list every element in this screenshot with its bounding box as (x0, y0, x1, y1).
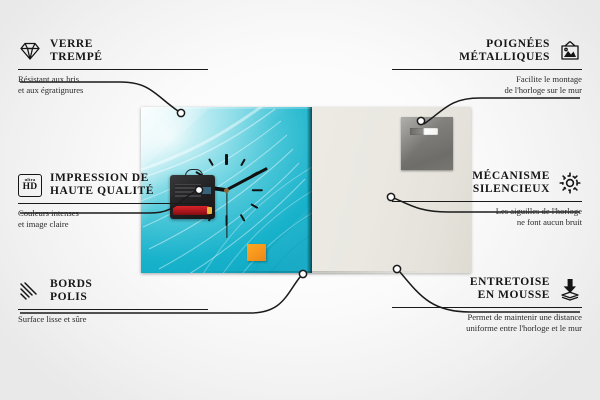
clock-second-hand (226, 190, 227, 238)
feature-entretoise-en-mousse: ENTRETOISE EN MOUSSE Permet de maintenir… (392, 276, 582, 334)
foam-spacer-icon (558, 277, 582, 301)
feature-rule (18, 203, 208, 204)
metal-hanger-plate (401, 117, 453, 170)
feature-desc-line2: ne font aucun bruit (517, 217, 582, 227)
feature-desc-line2: et aux égratignures (18, 85, 83, 95)
feature-title-line2: SILENCIEUX (473, 183, 550, 195)
feature-title-line1: MÉCANISME (472, 170, 550, 182)
feature-desc-line2: uniforme entre l'horloge et le mur (466, 323, 582, 333)
feature-verre-trempe: VERRE TREMPÉ Résistant aux bris et aux é… (18, 38, 208, 96)
feature-rule (392, 69, 582, 70)
gear-icon (558, 171, 582, 195)
picture-hanger-icon (558, 39, 582, 63)
infographic-canvas: VERRE TREMPÉ Résistant aux bris et aux é… (0, 0, 600, 400)
feature-mecanisme-silencieux: MÉCANISME SILENCIEUX Les aiguilles de l'… (392, 170, 582, 228)
feature-title-line2: HAUTE QUALITÉ (50, 185, 154, 197)
feature-desc-line1: Facilite le montage (516, 74, 582, 84)
foam-spacer (247, 244, 266, 261)
feature-title-line2: POLIS (50, 291, 87, 303)
feature-desc-line1: Couleurs intenses (18, 208, 79, 218)
feature-title-line1: IMPRESSION DE (50, 172, 149, 184)
feature-title-line1: VERRE (50, 38, 93, 50)
feature-desc-line1: Permet de maintenir une distance (467, 312, 582, 322)
feature-title-line2: EN MOUSSE (478, 289, 550, 301)
feature-title-line1: ENTRETOISE (470, 276, 550, 288)
feature-title-line1: POIGNÉES (486, 38, 550, 50)
feature-rule (18, 309, 208, 310)
ultra-hd-icon-main-text: HD (23, 183, 38, 193)
hanger-slot (410, 128, 438, 135)
feature-title-line1: BORDS (50, 278, 92, 290)
feature-desc-line1: Les aiguilles de l'horloge (496, 206, 582, 216)
feature-desc-line2: et image claire (18, 219, 69, 229)
feature-desc-line1: Surface lisse et sûre (18, 314, 87, 324)
feature-title-line2: TREMPÉ (50, 51, 103, 63)
feature-desc-line2: de l'horloge sur le mur (505, 85, 582, 95)
feature-impression-haute-qualite: ultra HD IMPRESSION DE HAUTE QUALITÉ Cou… (18, 172, 208, 230)
polished-edges-icon (18, 279, 42, 303)
feature-desc-line1: Résistant aux bris (18, 74, 79, 84)
feature-rule (392, 201, 582, 202)
feature-poignees-metalliques: POIGNÉES MÉTALLIQUES Facilite le montage… (392, 38, 582, 96)
feature-title-line2: MÉTALLIQUES (459, 51, 550, 63)
clock-center-cap (224, 188, 229, 193)
feature-rule (392, 307, 582, 308)
ultra-hd-icon: ultra HD (18, 173, 42, 197)
feature-rule (18, 69, 208, 70)
diamond-icon (18, 39, 42, 63)
feature-bords-polis: BORDS POLIS Surface lisse et sûre (18, 278, 208, 325)
